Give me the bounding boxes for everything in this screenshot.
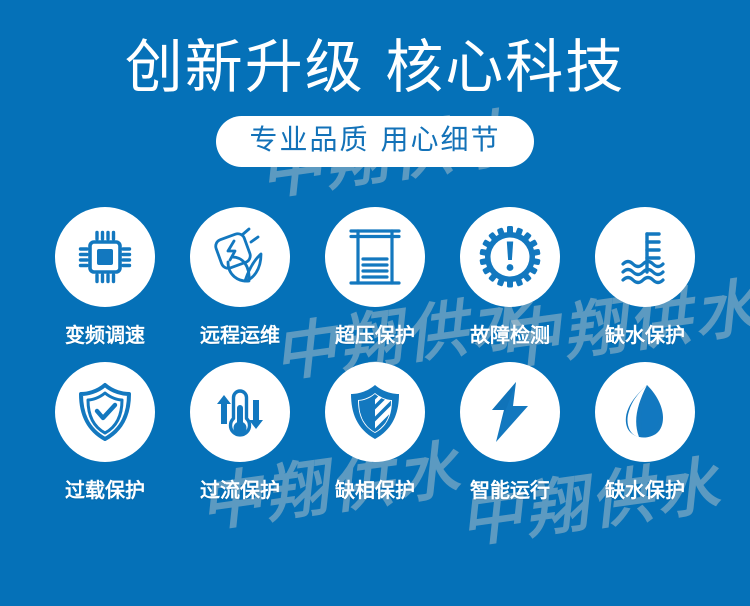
gear-alert-icon [479, 226, 541, 288]
feature-label: 变频调速 [65, 319, 145, 348]
feature-label: 缺水保护 [605, 474, 685, 503]
feature-icon-bubble [325, 362, 425, 462]
feature-label: 故障检测 [470, 319, 550, 348]
feature-row-1: 变频调速 远程运维 [0, 207, 750, 348]
feature-item[interactable]: 缺水保护 [595, 207, 695, 348]
feature-icon-bubble [55, 207, 155, 307]
feature-item[interactable]: 变频调速 [55, 207, 155, 348]
feature-icon-bubble [460, 362, 560, 462]
shield-stripes-icon [345, 381, 405, 443]
lightning-bolt-icon [482, 380, 538, 444]
feature-icon-bubble [595, 207, 695, 307]
banner-header: 创新升级 核心科技 专业品质 用心细节 [0, 0, 750, 167]
feature-icon-bubble [460, 207, 560, 307]
feature-label: 远程运维 [200, 319, 280, 348]
subtitle-pill: 专业品质 用心细节 [216, 116, 535, 166]
plug-leaf-icon [209, 226, 271, 288]
promo-banner: 中翔供水 中翔供水 中翔供水 中翔供水 中翔供水 创新升级 核心科技 专业品质 … [0, 0, 750, 606]
shield-check-icon [75, 381, 135, 443]
feature-item[interactable]: 故障检测 [460, 207, 560, 348]
feature-item[interactable]: 智能运行 [460, 362, 560, 503]
feature-icon-bubble [325, 207, 425, 307]
page-title: 创新升级 核心科技 [0, 37, 750, 98]
feature-label: 智能运行 [470, 474, 550, 503]
feature-icon-bubble [55, 362, 155, 462]
thermometer-arrows-icon [210, 381, 270, 443]
feature-item[interactable]: 过载保护 [55, 362, 155, 503]
feature-item[interactable]: 缺水保护 [595, 362, 695, 503]
water-level-gauge-icon [614, 226, 676, 288]
press-plate-icon [346, 226, 404, 288]
feature-item[interactable]: 超压保护 [325, 207, 425, 348]
feature-label: 缺水保护 [605, 319, 685, 348]
feature-item[interactable]: 缺相保护 [325, 362, 425, 503]
feature-row-2: 过载保护 过流保护 [0, 362, 750, 503]
feature-label: 超压保护 [335, 319, 415, 348]
feature-label: 过载保护 [65, 474, 145, 503]
feature-label: 缺相保护 [335, 474, 415, 503]
feature-icon-bubble [595, 362, 695, 462]
feature-grid: 变频调速 远程运维 [0, 207, 750, 503]
feature-item[interactable]: 过流保护 [190, 362, 290, 503]
feature-label: 过流保护 [200, 474, 280, 503]
water-drop-icon [615, 381, 675, 443]
subtitle-pill-wrap: 专业品质 用心细节 [0, 116, 750, 166]
feature-item[interactable]: 远程运维 [190, 207, 290, 348]
cpu-chip-icon [75, 227, 135, 287]
feature-icon-bubble [190, 207, 290, 307]
feature-icon-bubble [190, 362, 290, 462]
